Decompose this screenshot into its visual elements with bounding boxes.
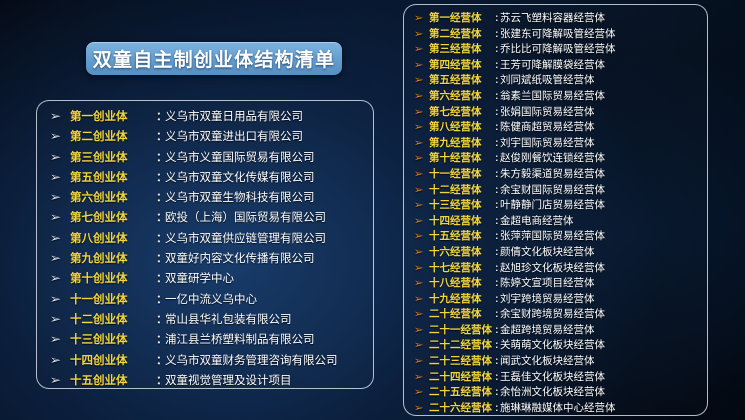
business-entity-value: 余宝财国际贸易经营体 [500,182,605,197]
entrepreneurial-entity-label: 第二创业体 [70,128,156,144]
entrepreneurial-entity-value: 义乌市双童财务管理咨询有限公司 [165,352,338,368]
business-entity-value: 王芳可降解膜袋经营体 [500,57,605,72]
business-entity-value: 闻武文化板块经营体 [500,353,595,368]
business-entity-label: 第六经营体 [429,88,495,103]
business-entity-label: 二十四经营体 [429,369,495,384]
page-title-text: 双童自主制创业体结构清单 [93,45,335,72]
business-entity-label: 十四经营体 [429,213,495,228]
arrow-bullet-icon: ➢ [414,186,431,196]
business-entity-row: ➢二十三经营体:闻武文化板块经营体 [415,353,699,369]
arrow-bullet-icon: ➢ [414,217,431,227]
business-entity-value: 金超跨境贸易经营体 [500,322,595,337]
business-entity-row: ➢二十一经营体:金超跨境贸易经营体 [415,322,699,338]
entrepreneurial-entity-row: ➢第九创业体：双童好内容文化传播有限公司 [51,250,363,270]
business-entity-row: ➢十四经营体:金超电商经营体 [415,213,699,229]
arrow-bullet-icon: ➢ [414,154,431,164]
business-entity-label: 十三经营体 [429,197,495,212]
arrow-bullet-icon: ➢ [50,252,72,264]
arrow-bullet-icon: ➢ [414,388,431,398]
business-entity-row: ➢第十经营体:赵俊刚餐饮连锁经营体 [415,150,699,166]
business-entity-row: ➢二十经营体:余宝财跨境贸易经营体 [415,306,699,322]
arrow-bullet-icon: ➢ [414,30,431,40]
entrepreneurial-entity-value: 义乌市双童文化传媒有限公司 [165,169,315,185]
arrow-bullet-icon: ➢ [50,313,72,325]
business-entity-label: 第三经营体 [429,41,495,56]
business-entity-label: 十一经营体 [429,166,495,181]
arrow-bullet-icon: ➢ [414,92,431,102]
arrow-bullet-icon: ➢ [50,293,72,305]
business-entity-row: ➢第九经营体:刘宇国际贸易经营体 [415,135,699,151]
entrepreneurial-entity-separator: ： [156,372,165,388]
entrepreneurial-entity-separator: ： [156,291,165,307]
entrepreneurial-entity-row: ➢十一创业体：一亿中流义乌中心 [51,291,363,311]
entrepreneurial-entity-label: 第八创业体 [70,230,156,246]
business-entity-label: 十五经营体 [429,228,495,243]
business-entity-value: 刘宇跨境贸易经营体 [500,291,595,306]
arrow-bullet-icon: ➢ [414,404,431,414]
arrow-bullet-icon: ➢ [414,310,431,320]
entrepreneurial-entity-value: 浦江县兰桥塑料制品有限公司 [165,331,315,347]
entrepreneurial-entity-separator: ： [156,331,165,347]
entrepreneurial-entity-value: 双童视觉管理及设计项目 [165,372,292,388]
arrow-bullet-icon: ➢ [50,171,72,183]
business-entity-value: 刘宇国际贸易经营体 [500,135,595,150]
business-entity-row: ➢第四经营体:王芳可降解膜袋经营体 [415,57,699,73]
business-entity-label: 十二经营体 [429,182,495,197]
arrow-bullet-icon: ➢ [414,108,431,118]
business-entity-value: 金超电商经营体 [500,213,574,228]
arrow-bullet-icon: ➢ [414,201,431,211]
entrepreneurial-entity-separator: ： [156,149,165,165]
arrow-bullet-icon: ➢ [414,264,431,274]
entrepreneurial-entity-label: 第十创业体 [70,270,156,286]
business-entity-row: ➢二十四经营体:王磊佳文化板块经营体 [415,369,699,385]
business-entity-value: 苏云飞塑料容器经营体 [500,10,605,25]
slide-canvas: 双童自主制创业体结构清单 ➢第一创业体：义乌市双童日用品有限公司➢第二创业体：义… [0,0,745,420]
business-entity-value: 余宝财跨境贸易经营体 [500,306,605,321]
business-entity-label: 二十三经营体 [429,353,495,368]
business-entity-value: 陈婷文宣项目经营体 [500,275,595,290]
business-entity-row: ➢二十六经营体:施琳琳融媒体中心经营体 [415,400,699,416]
business-entity-label: 二十一经营体 [429,322,495,337]
business-entity-label: 二十经营体 [429,306,495,321]
arrow-bullet-icon: ➢ [50,272,72,284]
entrepreneurial-entity-separator: ： [156,250,165,266]
business-entity-value: 张建东可降解吸管经营体 [500,26,616,41]
arrow-bullet-icon: ➢ [50,211,72,223]
business-entity-label: 二十五经营体 [429,384,495,399]
business-entity-value: 张萍萍国际贸易经营体 [500,228,605,243]
business-entity-row: ➢十一经营体:朱方毅渠道贸易经营体 [415,166,699,182]
entrepreneurial-entity-value: 义乌市双童生物科技有限公司 [165,189,315,205]
business-entity-value: 赵旭珍文化板块经营体 [500,260,605,275]
business-entity-label: 第四经营体 [429,57,495,72]
business-entity-row: ➢十九经营体:刘宇跨境贸易经营体 [415,291,699,307]
entrepreneurial-entity-label: 十四创业体 [70,352,156,368]
business-entity-row: ➢二十五经营体:余怡洲文化板块经营体 [415,384,699,400]
business-entity-label: 第一经营体 [429,10,495,25]
arrow-bullet-icon: ➢ [50,333,72,345]
business-entity-row: ➢十三经营体:叶静静门店贸易经营体 [415,197,699,213]
entrepreneurial-entity-separator: ： [156,209,165,225]
business-entity-label: 十九经营体 [429,291,495,306]
business-entity-label: 第二经营体 [429,26,495,41]
entrepreneurial-entity-separator: ： [156,108,165,124]
entrepreneurial-entities-list: ➢第一创业体：义乌市双童日用品有限公司➢第二创业体：义乌市双童进出口有限公司➢第… [51,108,363,392]
business-entity-value: 王磊佳文化板块经营体 [500,369,605,384]
business-entities-list: ➢第一经营体:苏云飞塑料容器经营体➢第二经营体:张建东可降解吸管经营体➢第三经营… [415,10,699,415]
business-entity-row: ➢十五经营体:张萍萍国际贸易经营体 [415,228,699,244]
arrow-bullet-icon: ➢ [414,357,431,367]
entrepreneurial-entity-row: ➢第二创业体：义乌市双童进出口有限公司 [51,128,363,148]
entrepreneurial-entity-label: 第六创业体 [70,189,156,205]
business-entity-value: 朱方毅渠道贸易经营体 [500,166,605,181]
arrow-bullet-icon: ➢ [414,341,431,351]
business-entity-row: ➢第八经营体:陈健商超贸易经营体 [415,119,699,135]
business-entity-label: 第八经营体 [429,119,495,134]
business-entity-value: 陈健商超贸易经营体 [500,119,595,134]
entrepreneurial-entity-row: ➢第六创业体：义乌市双童生物科技有限公司 [51,189,363,209]
entrepreneurial-entity-value: 双童好内容文化传播有限公司 [165,250,315,266]
entrepreneurial-entity-label: 十三创业体 [70,331,156,347]
entrepreneurial-entity-value: 义乌市双童进出口有限公司 [165,128,303,144]
entrepreneurial-entity-value: 欧投（上海）国际贸易有限公司 [165,209,326,225]
business-entity-value: 叶静静门店贸易经营体 [500,197,605,212]
business-entity-label: 二十六经营体 [429,400,495,415]
entrepreneurial-entity-value: 义乌市双童日用品有限公司 [165,108,303,124]
business-entity-value: 翁素兰国际贸易经营体 [500,88,605,103]
entrepreneurial-entity-row: ➢十四创业体：义乌市双童财务管理咨询有限公司 [51,352,363,372]
arrow-bullet-icon: ➢ [414,139,431,149]
business-entity-label: 十七经营体 [429,260,495,275]
arrow-bullet-icon: ➢ [414,248,431,258]
business-entity-value: 颜倩文化板块经营体 [500,244,595,259]
entrepreneurial-entity-separator: ： [156,169,165,185]
business-entity-row: ➢十八经营体:陈婷文宣项目经营体 [415,275,699,291]
entrepreneurial-entity-row: ➢十三创业体：浦江县兰桥塑料制品有限公司 [51,331,363,351]
business-entity-row: ➢第五经营体:刘同斌纸吸管经营体 [415,72,699,88]
entrepreneurial-entity-row: ➢十五创业体：双童视觉管理及设计项目 [51,372,363,392]
entrepreneurial-entity-label: 第一创业体 [70,108,156,124]
business-entity-label: 十八经营体 [429,275,495,290]
entrepreneurial-entity-label: 十二创业体 [70,311,156,327]
business-entity-value: 刘同斌纸吸管经营体 [500,72,595,87]
entrepreneurial-entity-separator: ： [156,352,165,368]
entrepreneurial-entity-row: ➢第一创业体：义乌市双童日用品有限公司 [51,108,363,128]
entrepreneurial-entity-separator: ： [156,311,165,327]
entrepreneurial-entity-row: ➢第七创业体：欧投（上海）国际贸易有限公司 [51,209,363,229]
entrepreneurial-entity-row: ➢第十创业体：双童研学中心 [51,270,363,290]
arrow-bullet-icon: ➢ [50,191,72,203]
business-entity-value: 施琳琳融媒体中心经营体 [500,400,616,415]
arrow-bullet-icon: ➢ [414,45,431,55]
business-entity-label: 第五经营体 [429,72,495,87]
arrow-bullet-icon: ➢ [414,123,431,133]
business-entity-row: ➢二十二经营体:关萌萌文化板块经营体 [415,337,699,353]
entrepreneurial-entity-separator: ： [156,270,165,286]
business-entity-row: ➢十六经营体:颜倩文化板块经营体 [415,244,699,260]
entrepreneurial-entity-label: 第七创业体 [70,209,156,225]
business-entity-row: ➢第七经营体:张娟国际贸易经营体 [415,104,699,120]
business-entity-label: 二十二经营体 [429,337,495,352]
business-entity-row: ➢十七经营体:赵旭珍文化板块经营体 [415,260,699,276]
business-entity-label: 第七经营体 [429,104,495,119]
business-entity-label: 十六经营体 [429,244,495,259]
entrepreneurial-entity-label: 第三创业体 [70,149,156,165]
business-entity-value: 关萌萌文化板块经营体 [500,337,605,352]
entrepreneurial-entity-row: ➢第八创业体：义乌市双童供应链管理有限公司 [51,230,363,250]
arrow-bullet-icon: ➢ [50,110,72,122]
arrow-bullet-icon: ➢ [50,232,72,244]
business-entity-value: 张娟国际贸易经营体 [500,104,595,119]
arrow-bullet-icon: ➢ [50,151,72,163]
business-entity-row: ➢第一经营体:苏云飞塑料容器经营体 [415,10,699,26]
entrepreneurial-entity-separator: ： [156,189,165,205]
business-entity-row: ➢第二经营体:张建东可降解吸管经营体 [415,26,699,42]
entrepreneurial-entity-row: ➢第五创业体：义乌市双童文化传媒有限公司 [51,169,363,189]
arrow-bullet-icon: ➢ [414,76,431,86]
business-entities-panel: ➢第一经营体:苏云飞塑料容器经营体➢第二经营体:张建东可降解吸管经营体➢第三经营… [403,4,708,416]
arrow-bullet-icon: ➢ [414,295,431,305]
arrow-bullet-icon: ➢ [50,354,72,366]
arrow-bullet-icon: ➢ [414,279,431,289]
business-entity-row: ➢十二经营体:余宝财国际贸易经营体 [415,182,699,198]
arrow-bullet-icon: ➢ [414,170,431,180]
entrepreneurial-entity-label: 十一创业体 [70,291,156,307]
arrow-bullet-icon: ➢ [50,374,72,386]
entrepreneurial-entity-label: 十五创业体 [70,372,156,388]
entrepreneurial-entity-row: ➢第三创业体：义乌市义童国际贸易有限公司 [51,149,363,169]
business-entity-value: 赵俊刚餐饮连锁经营体 [500,150,605,165]
entrepreneurial-entity-value: 义乌市义童国际贸易有限公司 [165,149,315,165]
entrepreneurial-entity-value: 双童研学中心 [165,270,234,286]
entrepreneurial-entity-label: 第五创业体 [70,169,156,185]
entrepreneurial-entity-value: 常山县华礼包装有限公司 [165,311,292,327]
arrow-bullet-icon: ➢ [50,130,72,142]
entrepreneurial-entities-panel: ➢第一创业体：义乌市双童日用品有限公司➢第二创业体：义乌市双童进出口有限公司➢第… [36,100,374,389]
entrepreneurial-entity-row: ➢十二创业体：常山县华礼包装有限公司 [51,311,363,331]
business-entity-value: 乔比比可降解吸管经营体 [500,41,616,56]
business-entity-value: 余怡洲文化板块经营体 [500,384,605,399]
entrepreneurial-entity-separator: ： [156,230,165,246]
business-entity-row: ➢第三经营体:乔比比可降解吸管经营体 [415,41,699,57]
business-entity-label: 第九经营体 [429,135,495,150]
entrepreneurial-entity-label: 第九创业体 [70,250,156,266]
entrepreneurial-entity-separator: ： [156,128,165,144]
arrow-bullet-icon: ➢ [414,232,431,242]
entrepreneurial-entity-value: 一亿中流义乌中心 [165,291,257,307]
arrow-bullet-icon: ➢ [414,61,431,71]
business-entity-row: ➢第六经营体:翁素兰国际贸易经营体 [415,88,699,104]
entrepreneurial-entity-value: 义乌市双童供应链管理有限公司 [165,230,326,246]
arrow-bullet-icon: ➢ [414,326,431,336]
arrow-bullet-icon: ➢ [414,373,431,383]
arrow-bullet-icon: ➢ [414,14,431,24]
business-entity-label: 第十经营体 [429,150,495,165]
page-title: 双童自主制创业体结构清单 [86,42,342,75]
